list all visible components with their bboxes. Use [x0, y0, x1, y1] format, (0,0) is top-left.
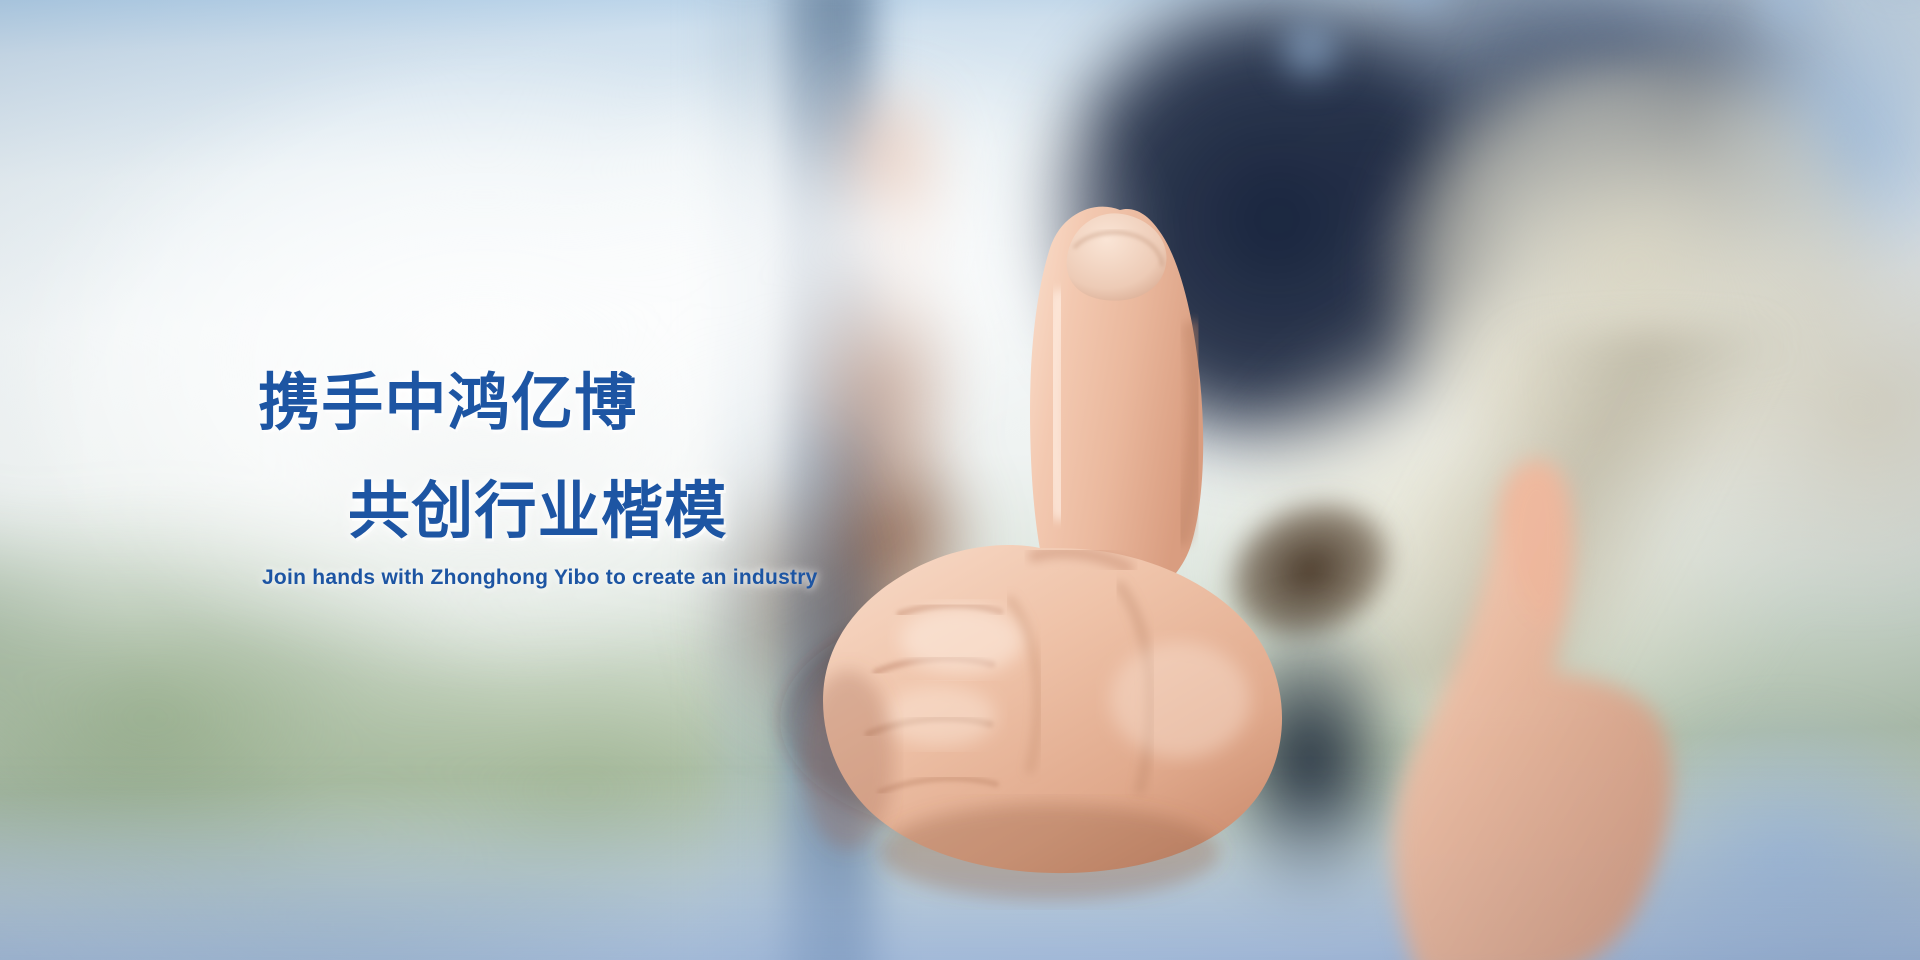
hero-banner: 携手中鸿亿博 共创行业楷模 Join hands with Zhonghong … [0, 0, 1920, 960]
thumbs-up-hand [0, 0, 1920, 960]
